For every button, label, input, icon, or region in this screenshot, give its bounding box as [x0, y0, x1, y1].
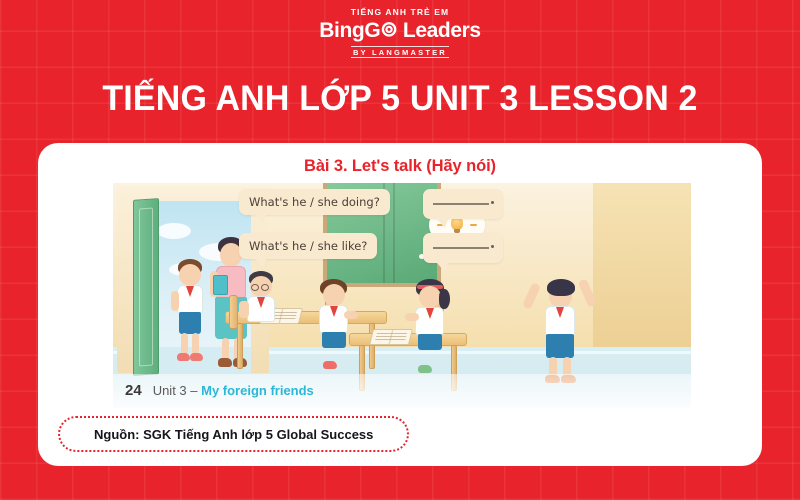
hair: [547, 279, 575, 296]
content-card: Bài 3. Let's talk (Hãy nói): [38, 143, 762, 466]
brand-byline: BY LANGMASTER: [351, 46, 449, 59]
source-badge: Nguồn: SGK Tiếng Anh lớp 5 Global Succes…: [58, 416, 409, 452]
shoe: [190, 353, 203, 361]
head: [179, 264, 201, 286]
lesson-subtitle: Bài 3. Let's talk (Hãy nói): [38, 157, 762, 176]
ponytail: [439, 289, 450, 309]
answer-blank-line: [433, 203, 489, 205]
bubble-text: What's he / she doing?: [249, 195, 380, 209]
answer-period: [491, 245, 494, 248]
student-figure-boy-desk: [313, 279, 357, 379]
unit-prefix: Unit 3 –: [153, 383, 201, 398]
shorts: [179, 312, 201, 334]
head: [323, 284, 345, 306]
green-door: [133, 198, 159, 376]
shorts: [418, 334, 442, 350]
page-title: TIẾNG ANH LỚP 5 UNIT 3 LESSON 2: [12, 79, 788, 119]
arm: [405, 313, 419, 321]
blackboard-seam: [393, 183, 395, 283]
student-figure-girl: [409, 279, 455, 383]
answer-period: [491, 201, 494, 204]
student-figure-cheering: [527, 269, 593, 387]
slide-canvas: TIẾNG ANH TRẺ EM BingG⊚ Leaders BY LANGM…: [0, 0, 800, 500]
glasses-icon: [251, 284, 259, 291]
brand-wordmark-part1: BingG: [319, 19, 380, 42]
brand-ring-icon: ⊚: [380, 19, 397, 40]
arm: [171, 291, 179, 311]
unit-caption: Unit 3 – My foreign friends: [153, 383, 314, 398]
door-panel-inner: [139, 208, 153, 367]
shorts: [322, 332, 346, 348]
red-scarf: [426, 308, 434, 319]
bubble-tail: [255, 259, 266, 268]
brand-wordmark: BingG⊚ Leaders: [0, 20, 800, 41]
book-lines: [375, 333, 407, 342]
brand-logo: TIẾNG ANH TRẺ EM BingG⊚ Leaders BY LANGM…: [0, 8, 800, 59]
red-scarf: [186, 286, 194, 297]
leg: [181, 333, 188, 355]
shoe: [177, 353, 190, 361]
speech-bubble-answer-1[interactable]: [423, 189, 503, 219]
head: [419, 286, 441, 308]
speech-bubble-answer-2[interactable]: [423, 233, 503, 263]
student-figure-boy-door: [169, 259, 209, 375]
source-badge-label: Nguồn: SGK Tiếng Anh lớp 5 Global Succes…: [94, 427, 373, 442]
red-scarf: [330, 306, 338, 317]
leg: [192, 333, 199, 355]
answer-blank-line: [433, 247, 489, 249]
bubble-tail: [255, 215, 266, 224]
notebook: [213, 275, 228, 295]
shorts: [546, 334, 574, 358]
student-figure-glasses: [241, 271, 283, 351]
shoe: [323, 361, 337, 369]
speech-bubble-question-2: What's he / she like?: [239, 233, 377, 259]
glasses-icon: [261, 284, 269, 291]
arm: [239, 301, 249, 318]
chair: [229, 295, 238, 329]
bubble-text: What's he / she like?: [249, 239, 367, 253]
bubble-tail: [437, 263, 448, 272]
cloud-icon: [157, 223, 191, 239]
shoe: [418, 365, 432, 373]
arm: [344, 311, 358, 319]
brand-kicker: TIẾNG ANH TRẺ EM: [0, 8, 800, 17]
textbook-illustration: What's he / she doing? What's he / she l…: [113, 183, 691, 408]
page-number: 24: [125, 382, 142, 399]
brand-wordmark-part2: Leaders: [398, 19, 481, 42]
textbook-page-caption: 24 Unit 3 – My foreign friends: [125, 382, 314, 399]
open-book: [369, 329, 413, 345]
speech-bubble-question-1: What's he / she doing?: [239, 189, 390, 215]
unit-title: My foreign friends: [201, 383, 314, 398]
red-scarf: [556, 307, 564, 318]
classroom-wall-right: [593, 183, 691, 354]
ray: [470, 224, 477, 226]
red-scarf: [257, 297, 265, 308]
bubble-tail: [437, 219, 448, 228]
